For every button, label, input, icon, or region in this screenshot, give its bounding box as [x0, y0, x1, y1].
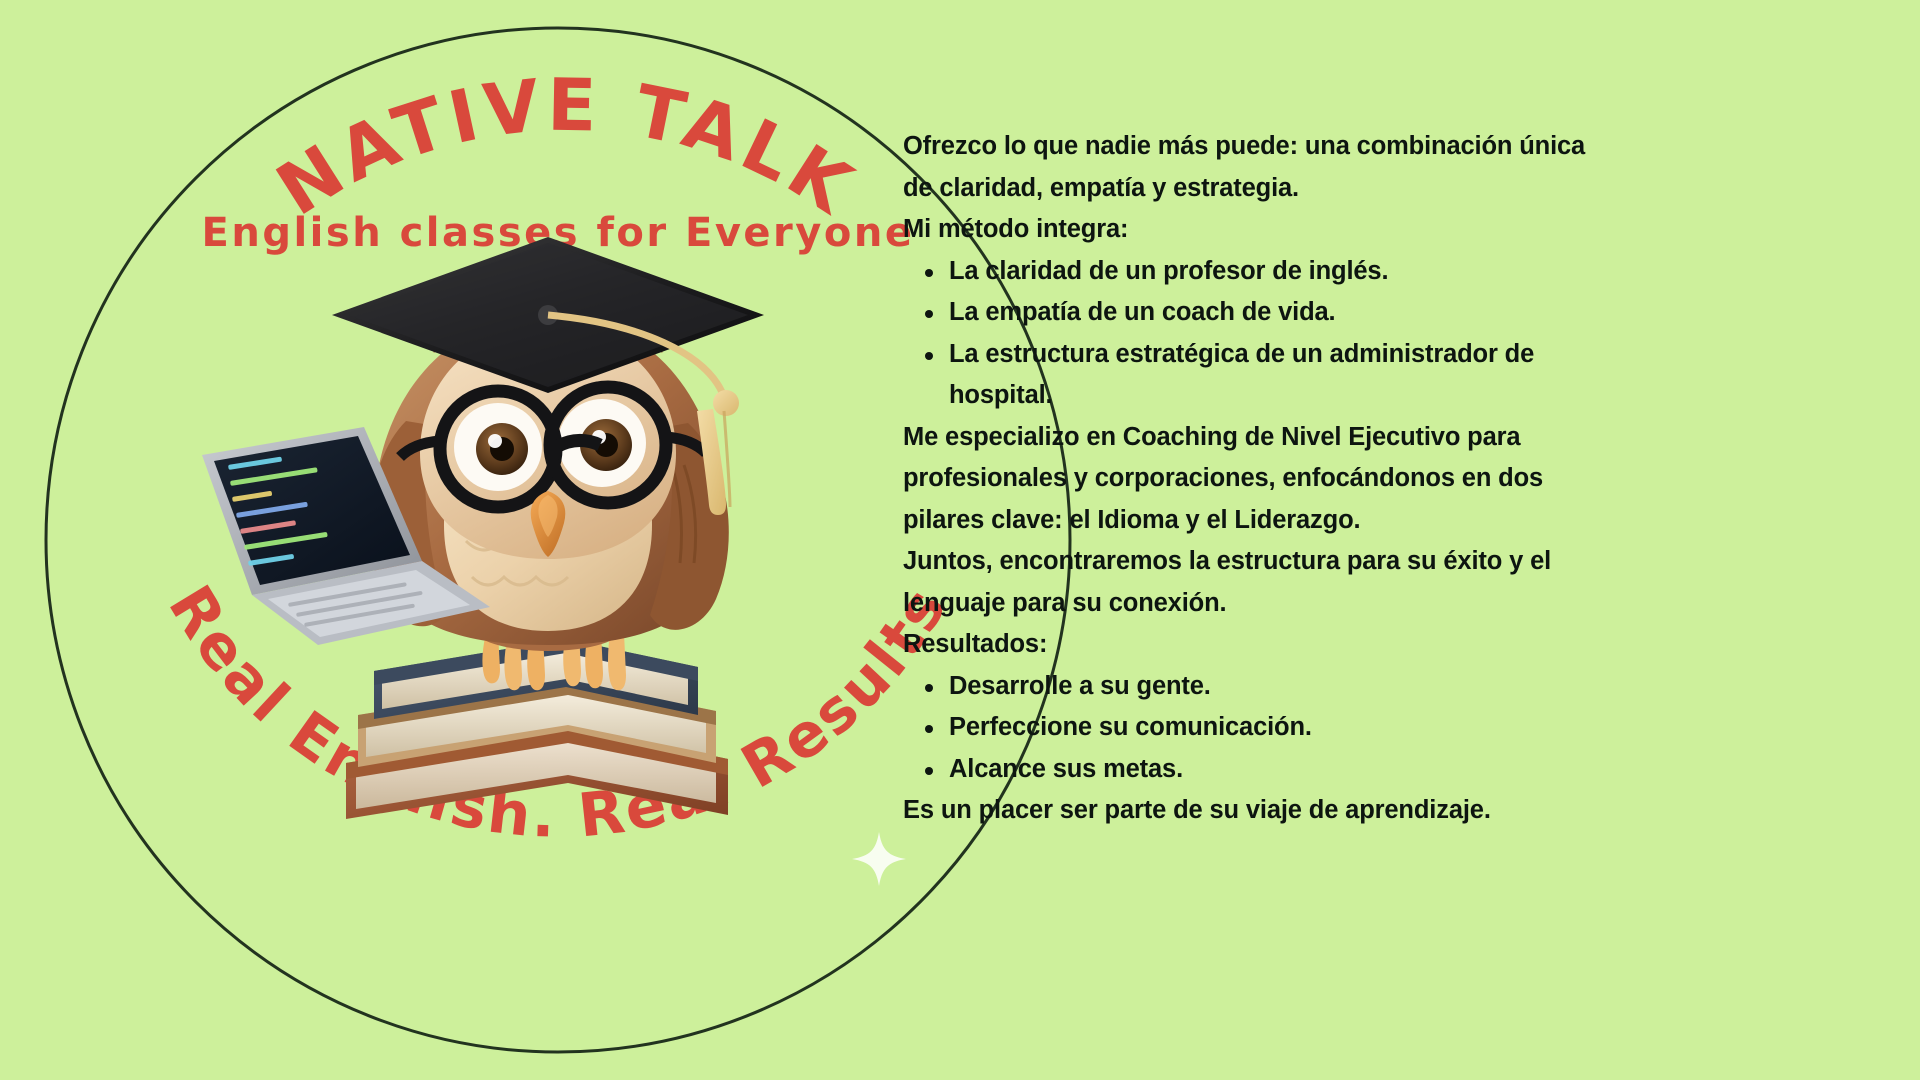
poster-canvas: NATIVE TALK English classes for Everyone… — [0, 0, 1920, 1080]
copy-method-heading: Mi método integra: — [903, 209, 1603, 251]
sparkle-icon — [850, 830, 908, 888]
list-item: Perfeccione su comunicación. — [949, 707, 1603, 749]
list-item: La claridad de un profesor de inglés. — [949, 251, 1603, 293]
list-item: Desarrolle a su gente. — [949, 666, 1603, 708]
list-item: Alcance sus metas. — [949, 749, 1603, 791]
copy-closing: Es un placer ser parte de su viaje de ap… — [903, 790, 1603, 832]
list-item: La empatía de un coach de vida. — [949, 292, 1603, 334]
copy-intro: Ofrezco lo que nadie más puede: una comb… — [903, 126, 1603, 209]
copy-results-heading: Resultados: — [903, 624, 1603, 666]
method-list: La claridad de un profesor de inglés. La… — [903, 251, 1603, 417]
owl-mascot-illustration — [168, 203, 848, 853]
marketing-copy: Ofrezco lo que nadie más puede: una comb… — [903, 126, 1603, 832]
results-list: Desarrolle a su gente. Perfeccione su co… — [903, 666, 1603, 791]
copy-specialization: Me especializo en Coaching de Nivel Ejec… — [903, 417, 1603, 542]
list-item: La estructura estratégica de un administ… — [949, 334, 1603, 417]
copy-together: Juntos, encontraremos la estructura para… — [903, 541, 1603, 624]
